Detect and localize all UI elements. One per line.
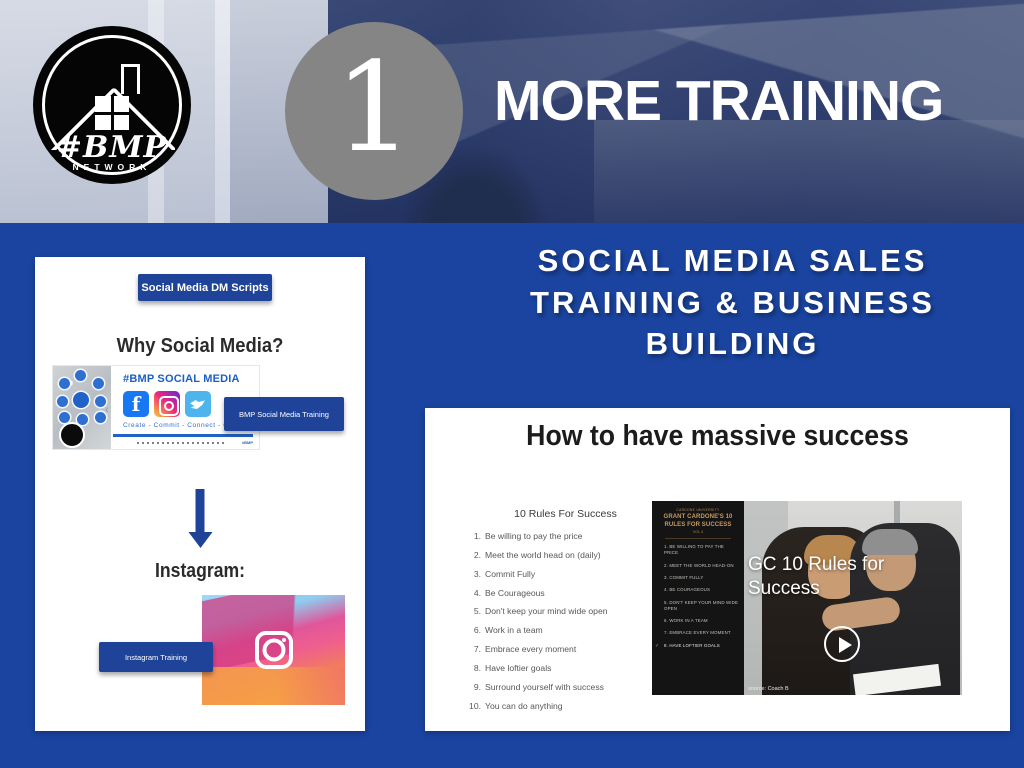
list-item: 4. BE COURAGEOUS [657, 587, 739, 593]
video-source-label: source: Coach B [748, 686, 789, 692]
list-item-number: 3. [463, 570, 481, 579]
list-item: 3.Commit Fully [463, 570, 668, 579]
list-item: 2. MEET THE WORLD HEAD-ON [657, 563, 739, 569]
list-item-number: 7. [463, 645, 481, 654]
page-title: SOCIAL MEDIA SALES TRAINING & BUSINESS B… [455, 240, 1010, 365]
widget-dots [137, 442, 224, 444]
list-item-text: Be willing to pay the price [485, 531, 582, 541]
list-item: 10.You can do anything [463, 702, 668, 711]
list-item-number: 2. [463, 551, 481, 560]
cardone-volume-label: VOL.4 [657, 530, 739, 534]
rules-title: 10 Rules For Success [463, 508, 668, 520]
cardone-brand-label: CARDONE UNIVERSITY [657, 508, 739, 512]
list-item-text: Embrace every moment [485, 644, 576, 654]
list-item: 2.Meet the world head on (daily) [463, 551, 668, 560]
list-item: 1.Be willing to pay the price [463, 532, 668, 541]
widget-footer-mark: #BMP [242, 440, 253, 445]
video-thumbnail[interactable]: GC 10 Rules for Success source: Coach B … [652, 501, 962, 695]
why-social-media-heading: Why Social Media? [48, 335, 352, 358]
rules-section: 10 Rules For Success 1.Be willing to pay… [463, 508, 668, 720]
social-media-dm-scripts-button[interactable]: Social Media DM Scripts [138, 274, 272, 301]
list-item-text: Have loftier goals [485, 663, 551, 673]
bmp-network-logo: #BMP NETWORK [33, 26, 191, 184]
list-item-text: Meet the world head on (daily) [485, 550, 601, 560]
list-item: 9.Surround yourself with success [463, 683, 668, 692]
list-item: 3. COMMIT FULLY [657, 575, 739, 581]
widget-heading: #BMP SOCIAL MEDIA [123, 373, 240, 385]
house-wall-shape [594, 120, 1024, 223]
list-item: 1. BE WILLING TO PAY THE PRICE [657, 544, 739, 556]
list-item-text: Work in a team [485, 625, 543, 635]
window-pane-icon [95, 96, 129, 130]
list-item: 5.Don't keep your mind wide open [463, 607, 668, 616]
people-network-icon [53, 366, 111, 428]
list-item: 8.Have loftier goals [463, 664, 668, 673]
list-item-number: 8. [463, 664, 481, 673]
instagram-training-button[interactable]: Instagram Training [99, 642, 213, 672]
list-item-text: Be Courageous [485, 588, 545, 598]
list-item: 5. DON'T KEEP YOUR MIND WIDE OPEN [657, 600, 739, 612]
list-item-number: 5. [463, 607, 481, 616]
cardone-rules-panel: CARDONE UNIVERSITY GRANT CARDONE'S 10 RU… [652, 501, 744, 695]
list-item: 7.Embrace every moment [463, 645, 668, 654]
list-item-text: Commit Fully [485, 569, 535, 579]
list-item: 6. WORK IN A TEAM [657, 618, 739, 624]
panel-divider [665, 538, 731, 539]
widget-photo [53, 366, 111, 450]
widget-logo-badge [59, 422, 85, 448]
list-item-number: 10. [463, 702, 481, 711]
arrow-down-icon [196, 489, 205, 533]
instagram-glyph-icon [255, 631, 293, 669]
left-content-card: Social Media DM Scripts Why Social Media… [35, 257, 365, 731]
bmp-social-media-training-button[interactable]: BMP Social Media Training [224, 397, 344, 431]
list-item-text: Surround yourself with success [485, 682, 604, 692]
cardone-panel-title: GRANT CARDONE'S 10 RULES FOR SUCCESS [657, 514, 739, 529]
header-banner: #BMP NETWORK 1 MORE TRAINING [0, 0, 1024, 223]
social-icon-row[interactable] [123, 391, 211, 417]
play-icon[interactable] [824, 626, 860, 662]
list-item-number: 9. [463, 683, 481, 692]
list-item: 7. EMBRACE EVERY MOMENT [657, 630, 739, 636]
list-item-active: ✓8. HAVE LOFTIER GOALS [657, 643, 739, 649]
list-item-number: 6. [463, 626, 481, 635]
video-overlay-title: GC 10 Rules for Success [748, 553, 948, 602]
step-number-value: 1 [335, 46, 414, 170]
list-item-number: 4. [463, 589, 481, 598]
list-item-number: 1. [463, 532, 481, 541]
chimney-icon [121, 64, 140, 94]
massive-success-heading: How to have massive success [448, 420, 986, 453]
twitter-icon[interactable] [185, 391, 211, 417]
list-item: 4.Be Courageous [463, 589, 668, 598]
logo-sub-text: NETWORK [33, 162, 191, 172]
person-right-hair [862, 529, 918, 555]
list-item-text: 8. HAVE LOFTIER GOALS [664, 643, 720, 648]
instagram-heading: Instagram: [55, 560, 345, 583]
rules-list: 1.Be willing to pay the price 2.Meet the… [463, 532, 668, 711]
list-item-text: Don't keep your mind wide open [485, 606, 608, 616]
list-item: 6.Work in a team [463, 626, 668, 635]
cardone-rules-list: 1. BE WILLING TO PAY THE PRICE 2. MEET T… [657, 544, 739, 648]
instagram-icon[interactable] [154, 391, 180, 417]
widget-progress-bar [113, 434, 253, 437]
list-item-text: You can do anything [485, 701, 563, 711]
facebook-icon[interactable] [123, 391, 149, 417]
header-title: MORE TRAINING [494, 68, 943, 134]
carousel-prev-icon[interactable]: ‹ [105, 404, 109, 416]
step-number-badge: 1 [285, 22, 463, 200]
logo-brand-text: #BMP [33, 130, 191, 165]
right-content-card: How to have massive success 10 Rules For… [425, 408, 1010, 731]
instagram-promo-image [202, 595, 345, 705]
check-icon: ✓ [655, 643, 659, 650]
